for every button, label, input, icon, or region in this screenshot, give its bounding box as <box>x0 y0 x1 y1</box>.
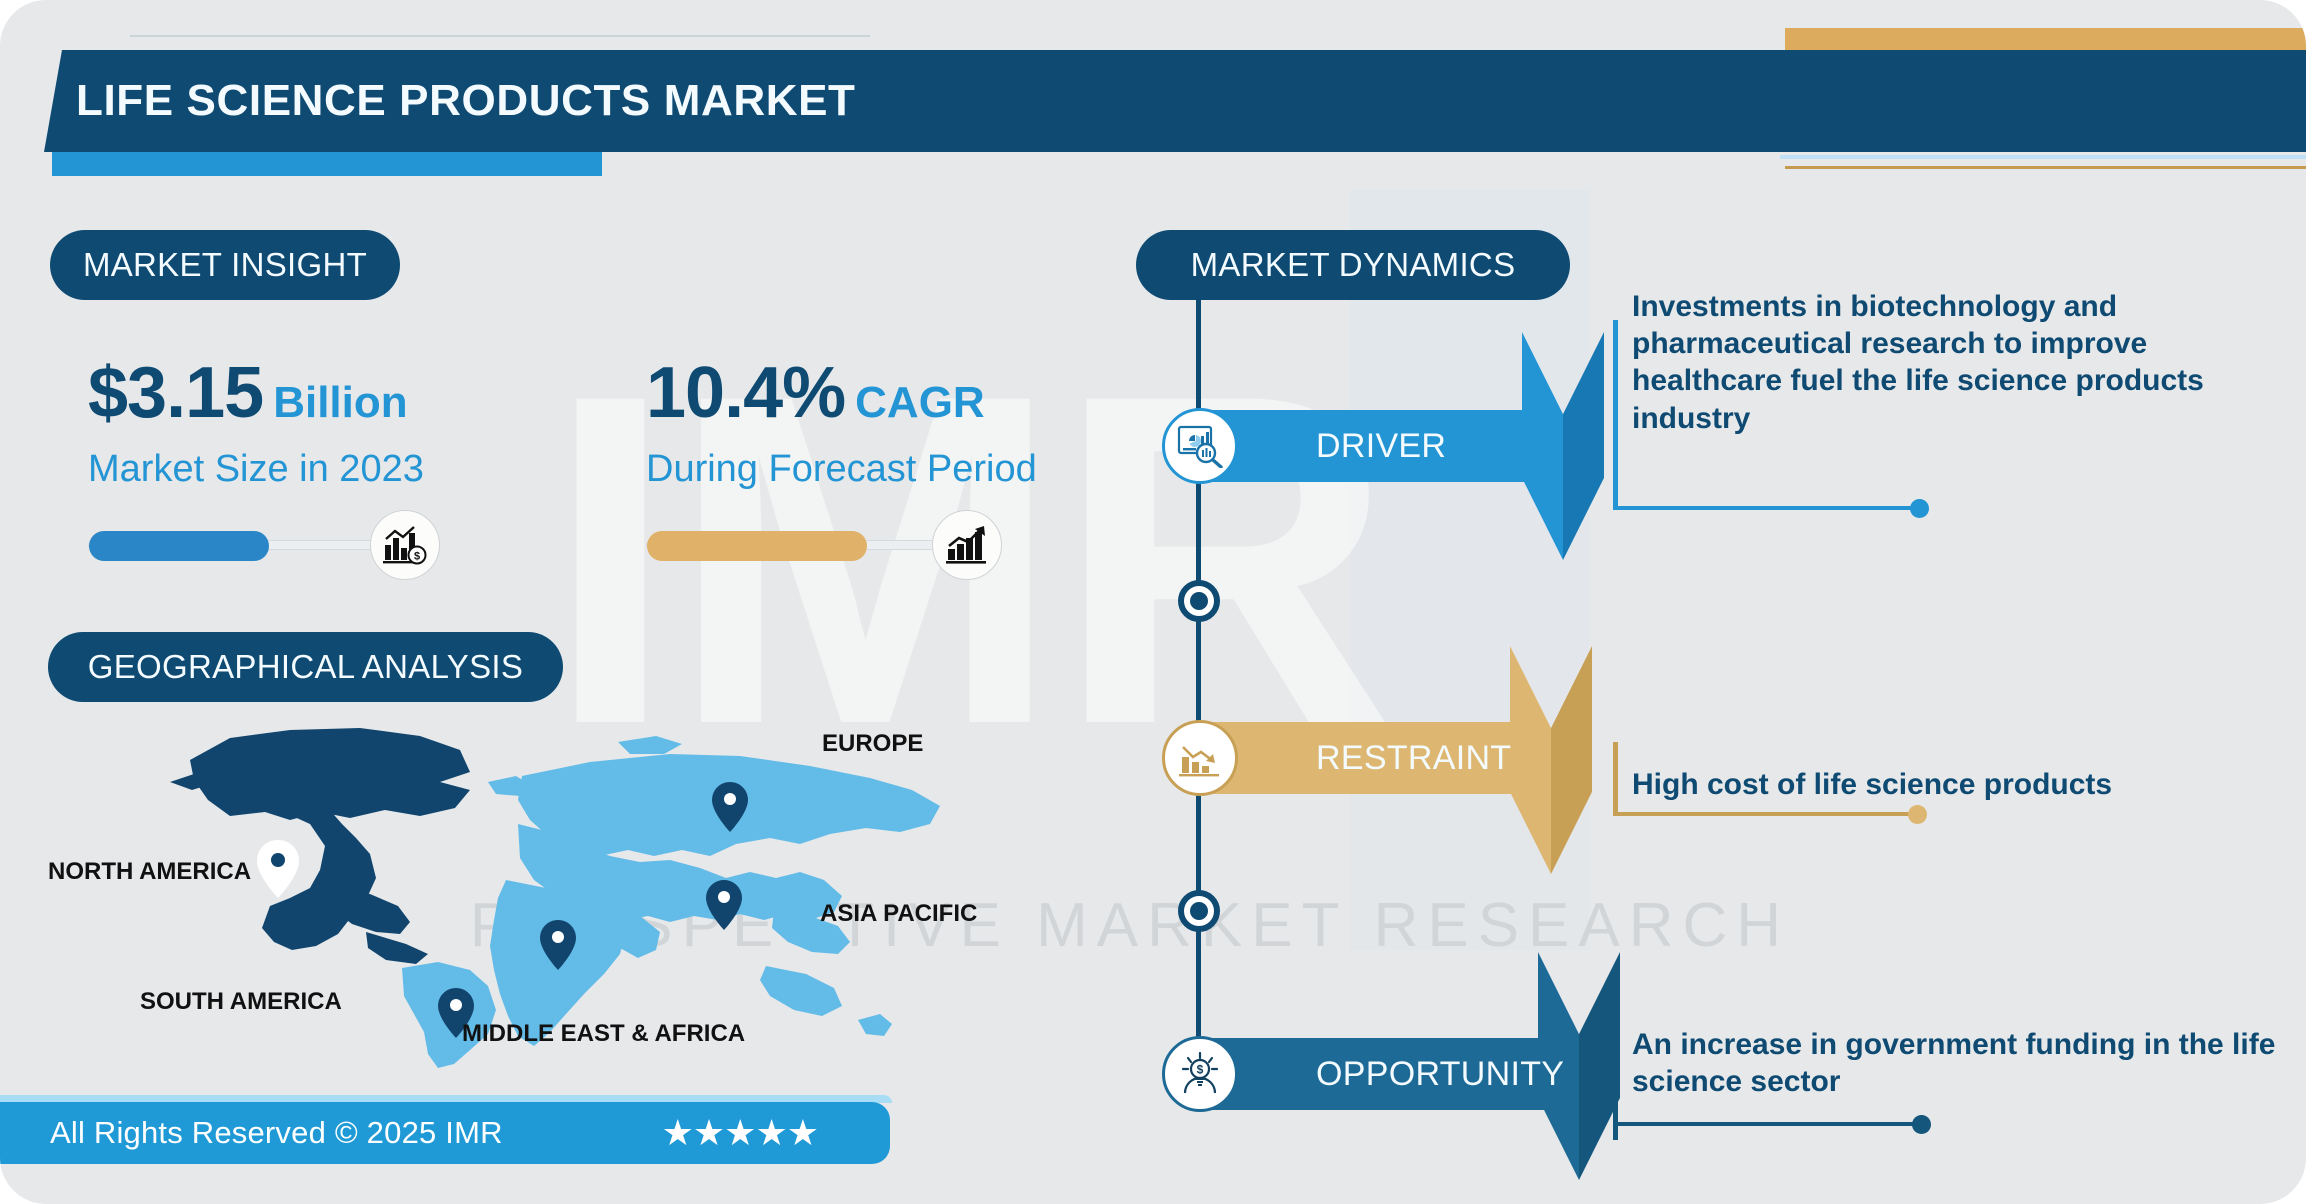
driver-rule <box>1613 506 1923 510</box>
star-rating: ★★★★★ <box>662 1112 818 1154</box>
driver-description: Investments in biotechnology and pharmac… <box>1632 288 2232 437</box>
restraint-bar: RESTRAINT <box>1196 722 1516 794</box>
stat-cagr: 10.4%CAGR During Forecast Period <box>646 352 1037 491</box>
map-label-south-america: SOUTH AMERICA <box>140 988 342 1016</box>
driver-chevron <box>1522 332 1604 560</box>
stat-unit: Billion <box>273 378 407 428</box>
geographical-analysis-pill: GEOGRAPHICAL ANALYSIS <box>48 632 563 702</box>
growth-chart-arrow-icon <box>932 510 1002 580</box>
opportunity-description: An increase in government funding in the… <box>1632 1026 2292 1100</box>
driver-end-dot <box>1910 499 1929 518</box>
map-pin-asia-pacific <box>706 880 742 930</box>
lightbulb-dollar-icon: $ <box>1162 1036 1238 1112</box>
restraint-end-dot <box>1908 805 1927 824</box>
opportunity-tick <box>1613 1010 1618 1140</box>
report-magnifier-icon <box>1162 408 1238 484</box>
stat-caption: Market Size in 2023 <box>88 448 424 491</box>
map-label-middle-east-africa: MIDDLE EAST & AFRICA <box>462 1020 745 1048</box>
bar-chart-dollar-icon: $ <box>370 510 440 580</box>
driver-tick <box>1613 320 1618 510</box>
header-top-rule <box>130 35 870 37</box>
market-insight-pill: MARKET INSIGHT <box>50 230 400 300</box>
opportunity-rule <box>1613 1122 1925 1126</box>
stat-unit: CAGR <box>855 378 985 428</box>
restraint-label: RESTRAINT <box>1316 739 1511 778</box>
map-pin-north-america <box>257 840 299 898</box>
market-size-progress-track <box>88 540 408 550</box>
map-region-north-america <box>170 728 470 964</box>
footer-bar: All Rights Reserved © 2025 IMR ★★★★★ <box>0 1102 890 1164</box>
copyright-text: All Rights Reserved © 2025 IMR <box>50 1115 503 1151</box>
restraint-description: High cost of life science products <box>1632 766 2292 803</box>
cagr-progress-fill <box>647 531 867 561</box>
world-map <box>170 720 950 1070</box>
page-title: LIFE SCIENCE PRODUCTS MARKET <box>76 50 856 152</box>
stat-value: $3.15 <box>88 352 263 434</box>
map-label-europe: EUROPE <box>822 730 923 758</box>
header-underline <box>52 152 602 176</box>
map-label-north-america: NORTH AMERICA <box>48 858 251 886</box>
dynamics-node-1 <box>1178 580 1220 622</box>
restraint-tick <box>1613 742 1618 814</box>
market-dynamics-pill: MARKET DYNAMICS <box>1136 230 1570 300</box>
driver-label: DRIVER <box>1316 427 1446 466</box>
declining-bar-chart-icon <box>1162 720 1238 796</box>
restraint-rule <box>1613 812 1918 816</box>
driver-bar: DRIVER <box>1196 410 1526 482</box>
infographic-canvas: IMR PROSPECTIVE MARKET RESEARCH LIFE SCI… <box>0 0 2306 1204</box>
dynamics-node-2 <box>1178 890 1220 932</box>
svg-text:$: $ <box>1197 1063 1204 1077</box>
header-light-rule <box>1780 155 2306 159</box>
stat-caption: During Forecast Period <box>646 448 1037 491</box>
market-size-progress-fill <box>89 531 269 561</box>
header-gold-rule <box>1785 166 2306 169</box>
opportunity-label: OPPORTUNITY <box>1316 1055 1564 1094</box>
opportunity-end-dot <box>1912 1115 1931 1134</box>
map-label-asia-pacific: ASIA PACIFIC <box>820 900 977 928</box>
cagr-progress-track <box>646 540 966 550</box>
restraint-chevron <box>1510 646 1592 874</box>
opportunity-bar: OPPORTUNITY <box>1196 1038 1546 1110</box>
svg-text:$: $ <box>414 551 420 563</box>
stat-market-size: $3.15Billion Market Size in 2023 <box>88 352 424 491</box>
stat-value: 10.4% <box>646 352 845 434</box>
